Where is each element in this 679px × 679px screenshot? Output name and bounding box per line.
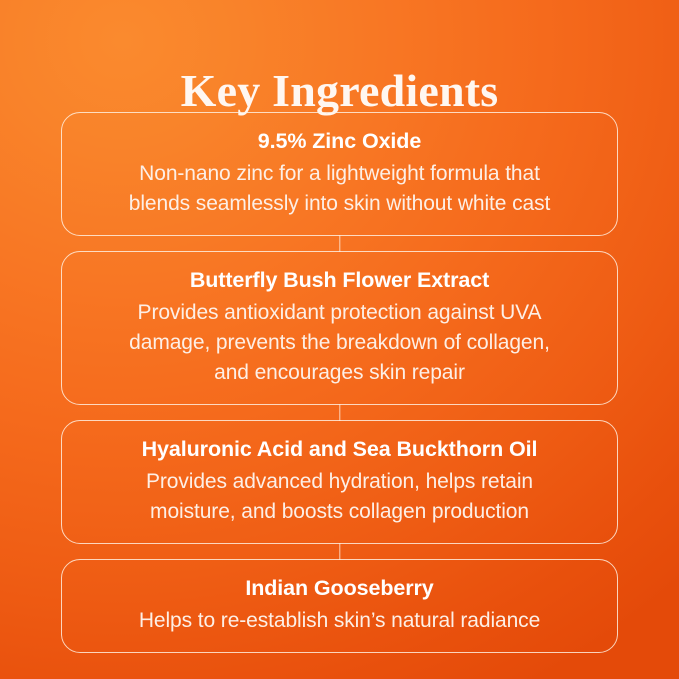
card-connector-line — [61, 544, 618, 559]
page-title: Key Ingredients — [181, 65, 499, 117]
ingredient-card: Hyaluronic Acid and Sea Buckthorn Oil Pr… — [61, 420, 618, 544]
ingredient-card-slot-4: Indian Gooseberry Helps to re-establish … — [61, 559, 618, 653]
ingredient-card: Butterfly Bush Flower Extract Provides a… — [61, 251, 618, 405]
ingredient-name: 9.5% Zinc Oxide — [84, 126, 595, 156]
ingredient-description: Provides antioxidant protection against … — [84, 298, 595, 388]
card-connector-line — [61, 236, 618, 251]
ingredient-card-list: 9.5% Zinc Oxide Non-nano zinc for a ligh… — [61, 112, 618, 653]
ingredient-description: Non-nano zinc for a lightweight formula … — [84, 159, 595, 219]
ingredient-card-slot-2: Butterfly Bush Flower Extract Provides a… — [61, 251, 618, 405]
card-connector-line — [61, 405, 618, 420]
ingredient-card: Indian Gooseberry Helps to re-establish … — [61, 559, 618, 653]
key-ingredients-poster: Key Ingredients 9.5% Zinc Oxide Non-nano… — [0, 0, 679, 679]
ingredient-name: Indian Gooseberry — [84, 573, 595, 603]
ingredient-name: Hyaluronic Acid and Sea Buckthorn Oil — [84, 434, 595, 464]
ingredient-name: Butterfly Bush Flower Extract — [84, 265, 595, 295]
ingredient-description: Provides advanced hydration, helps retai… — [84, 467, 595, 527]
ingredient-card-slot-3: Hyaluronic Acid and Sea Buckthorn Oil Pr… — [61, 420, 618, 544]
ingredient-card-slot-1: 9.5% Zinc Oxide Non-nano zinc for a ligh… — [61, 112, 618, 236]
ingredient-description: Helps to re-establish skin’s natural rad… — [84, 606, 595, 636]
ingredient-card: 9.5% Zinc Oxide Non-nano zinc for a ligh… — [61, 112, 618, 236]
